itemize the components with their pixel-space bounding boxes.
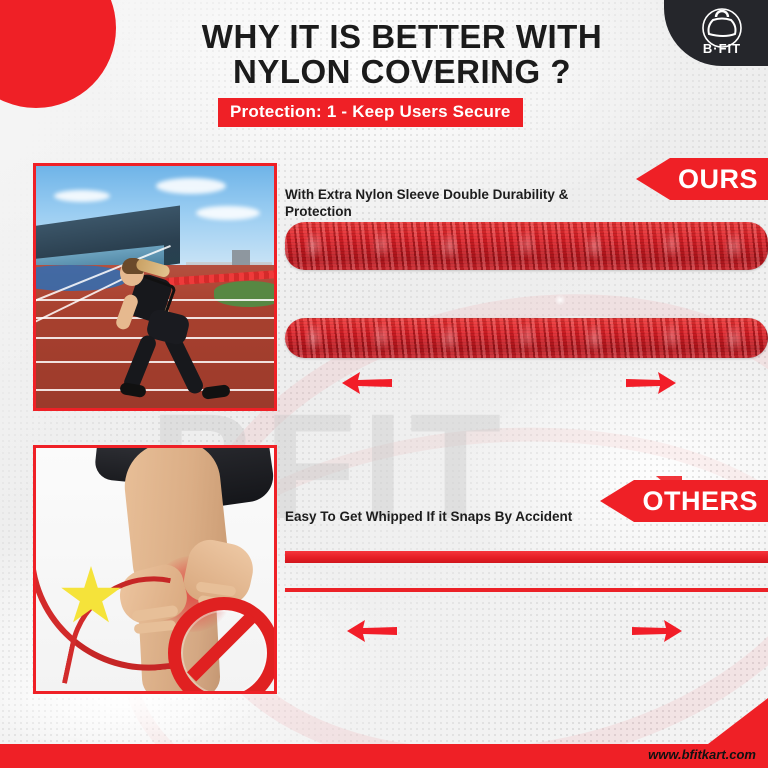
top-left-red-circle <box>0 0 116 108</box>
website-url[interactable]: www.bfitkart.com <box>648 747 756 762</box>
cloud <box>196 206 260 220</box>
bottom-right-red-triangle <box>708 698 768 744</box>
stretch-arrow-left-icon <box>340 370 394 396</box>
label-others-text: OTHERS <box>634 480 768 522</box>
track-infield-green <box>214 281 277 307</box>
lane-line <box>36 389 274 391</box>
page-title-line2: NYLON COVERING ? <box>152 55 652 90</box>
label-ours-text: OURS <box>670 158 768 200</box>
footer-bar: www.bfitkart.com <box>0 744 768 768</box>
brand-logo-text: B·FIT <box>703 41 741 56</box>
infographic-poster: BFIT B·FIT WHY IT IS BETTER WITH NYLON C… <box>0 0 768 768</box>
label-others: OTHERS <box>600 480 768 522</box>
label-ours: OURS <box>636 158 768 200</box>
plain-band-lower <box>285 588 768 592</box>
cloud <box>156 178 226 194</box>
prohibition-icon <box>168 597 277 694</box>
nylon-band-upper <box>285 222 768 270</box>
brand-logo-badge: B·FIT <box>664 0 768 66</box>
caption-ours: With Extra Nylon Sleeve Double Durabilit… <box>285 186 615 221</box>
plain-band-upper <box>285 551 768 563</box>
subtitle-banner: Protection: 1 - Keep Users Secure <box>218 98 523 127</box>
photo-others-injury <box>33 445 277 694</box>
cloud <box>54 190 110 202</box>
page-title-line1: WHY IT IS BETTER WITH <box>152 20 652 55</box>
photo-ours-athlete <box>33 163 277 411</box>
arrow-left-icon <box>636 158 670 200</box>
stretch-arrow-left-icon <box>345 618 399 644</box>
stretch-arrow-right-icon <box>630 618 684 644</box>
caption-others: Easy To Get Whipped If it Snaps By Accid… <box>285 508 615 525</box>
nylon-band-lower <box>285 318 768 358</box>
lane-line <box>36 361 274 363</box>
stretch-arrow-right-icon <box>624 370 678 396</box>
page-title: WHY IT IS BETTER WITH NYLON COVERING ? <box>152 20 652 90</box>
